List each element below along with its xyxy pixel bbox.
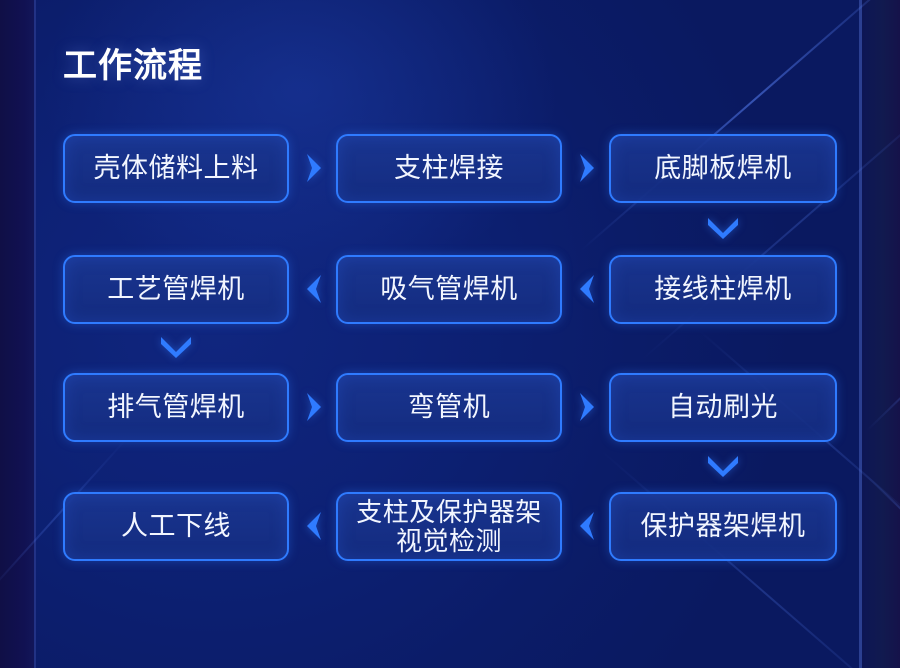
flow-node-line-2: 视觉检测 <box>356 527 542 555</box>
flow-node-支柱焊接[interactable]: 支柱焊接 <box>336 134 562 203</box>
flow-node-保护器架焊机[interactable]: 保护器架焊机 <box>609 492 837 561</box>
chevron-left-icon <box>572 272 602 306</box>
chevron-right-icon <box>572 151 602 185</box>
workflow-diagram: 壳体储料上料 支柱焊接 底脚板焊机 工艺管焊机 吸气管焊机 接线柱焊机 <box>0 0 900 668</box>
chevron-down-icon <box>159 333 193 359</box>
chevron-down-icon <box>706 452 740 478</box>
flow-node-人工下线[interactable]: 人工下线 <box>63 492 289 561</box>
chevron-right-icon <box>572 390 602 424</box>
flow-node-支柱及保护器架视觉检测[interactable]: 支柱及保护器架 视觉检测 <box>336 492 562 561</box>
chevron-left-icon <box>299 509 329 543</box>
workflow-infographic: 工作流程 壳体储料上料 支柱焊接 底脚板焊机 工艺管焊机 吸气管焊机 接线柱焊机 <box>0 0 900 668</box>
flow-node-排气管焊机[interactable]: 排气管焊机 <box>63 373 289 442</box>
flow-node-吸气管焊机[interactable]: 吸气管焊机 <box>336 255 562 324</box>
chevron-left-icon <box>572 509 602 543</box>
chevron-right-icon <box>299 151 329 185</box>
flow-node-工艺管焊机[interactable]: 工艺管焊机 <box>63 255 289 324</box>
flow-node-line-1: 支柱及保护器架 <box>356 498 542 526</box>
chevron-left-icon <box>299 272 329 306</box>
flow-node-底脚板焊机[interactable]: 底脚板焊机 <box>609 134 837 203</box>
chevron-down-icon <box>706 214 740 240</box>
flow-node-壳体储料上料[interactable]: 壳体储料上料 <box>63 134 289 203</box>
flow-node-接线柱焊机[interactable]: 接线柱焊机 <box>609 255 837 324</box>
flow-node-弯管机[interactable]: 弯管机 <box>336 373 562 442</box>
chevron-right-icon <box>299 390 329 424</box>
flow-node-自动刷光[interactable]: 自动刷光 <box>609 373 837 442</box>
